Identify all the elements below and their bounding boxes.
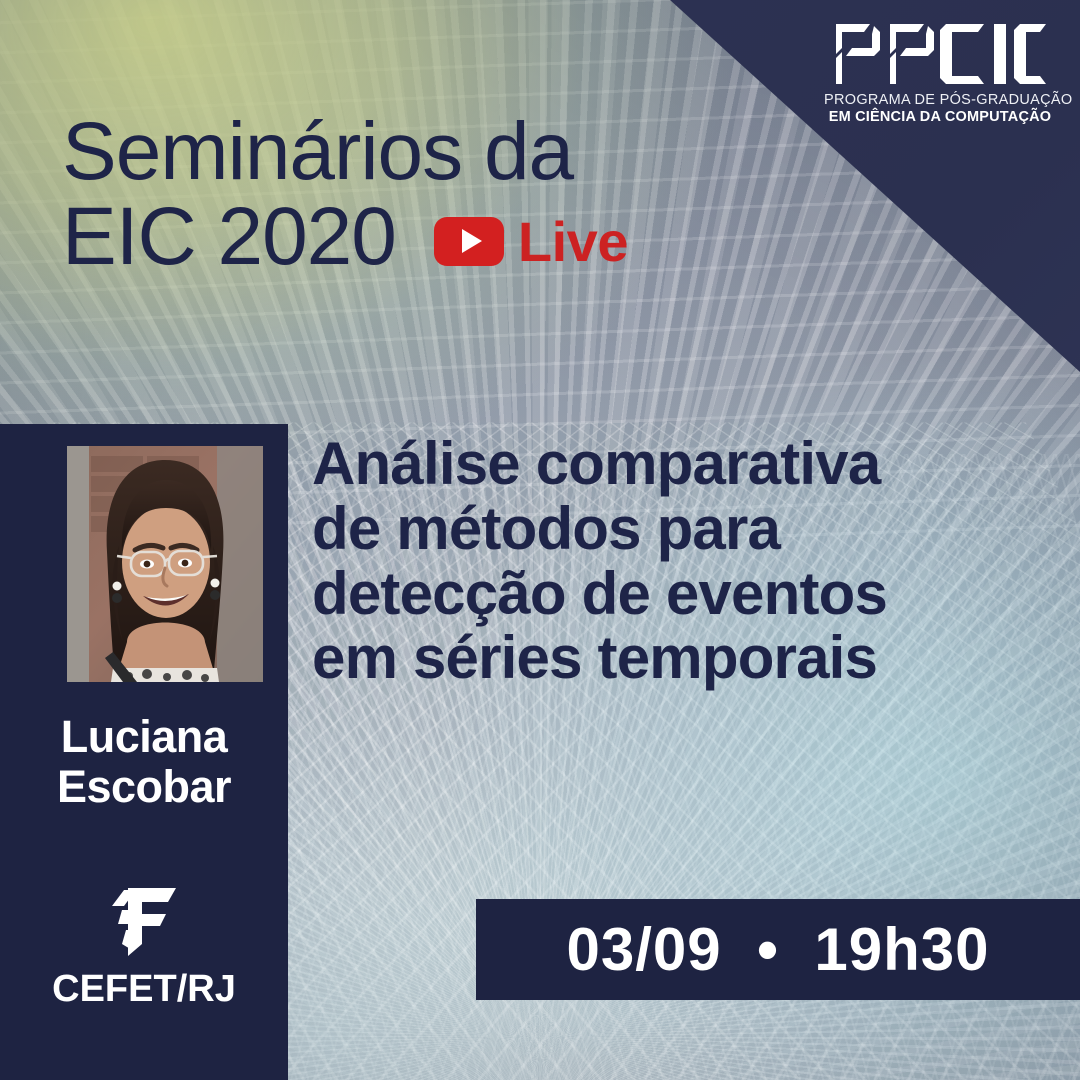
date-time-banner: 03/09 • 19h30	[476, 899, 1080, 1000]
date-time-text: 03/09 • 19h30	[567, 915, 990, 984]
speaker-panel: Luciana Escobar CEFET/RJ	[0, 424, 288, 1080]
series-title-line1: Seminários da	[62, 112, 573, 192]
ppcic-subtitle-line1: PROGRAMA DE PÓS-GRADUAÇÃO	[824, 92, 1056, 108]
cefet-logo: CEFET/RJ	[0, 884, 288, 1011]
cefet-wordmark: CEFET/RJ	[0, 968, 288, 1011]
ppcic-logo: PROGRAMA DE PÓS-GRADUAÇÃO EM CIÊNCIA DA …	[824, 20, 1056, 125]
speaker-name: Luciana Escobar	[0, 712, 288, 813]
speaker-portrait-photo	[67, 446, 263, 682]
ppcic-logomark-icon	[834, 20, 1046, 88]
series-title-row: EIC 2020 Live	[62, 196, 628, 278]
seminar-poster: PROGRAMA DE PÓS-GRADUAÇÃO EM CIÊNCIA DA …	[0, 0, 1080, 1080]
live-label: Live	[518, 209, 628, 274]
ppcic-subtitle-line2: EM CIÊNCIA DA COMPUTAÇÃO	[824, 109, 1056, 125]
speaker-photo-illustration	[67, 446, 263, 682]
talk-title: Análise comparativa de métodos para dete…	[312, 432, 1042, 691]
youtube-live-badge[interactable]: Live	[434, 209, 628, 274]
youtube-play-icon	[434, 217, 504, 266]
cefet-logomark-icon	[102, 884, 186, 960]
series-title-line2: EIC 2020	[62, 196, 396, 278]
